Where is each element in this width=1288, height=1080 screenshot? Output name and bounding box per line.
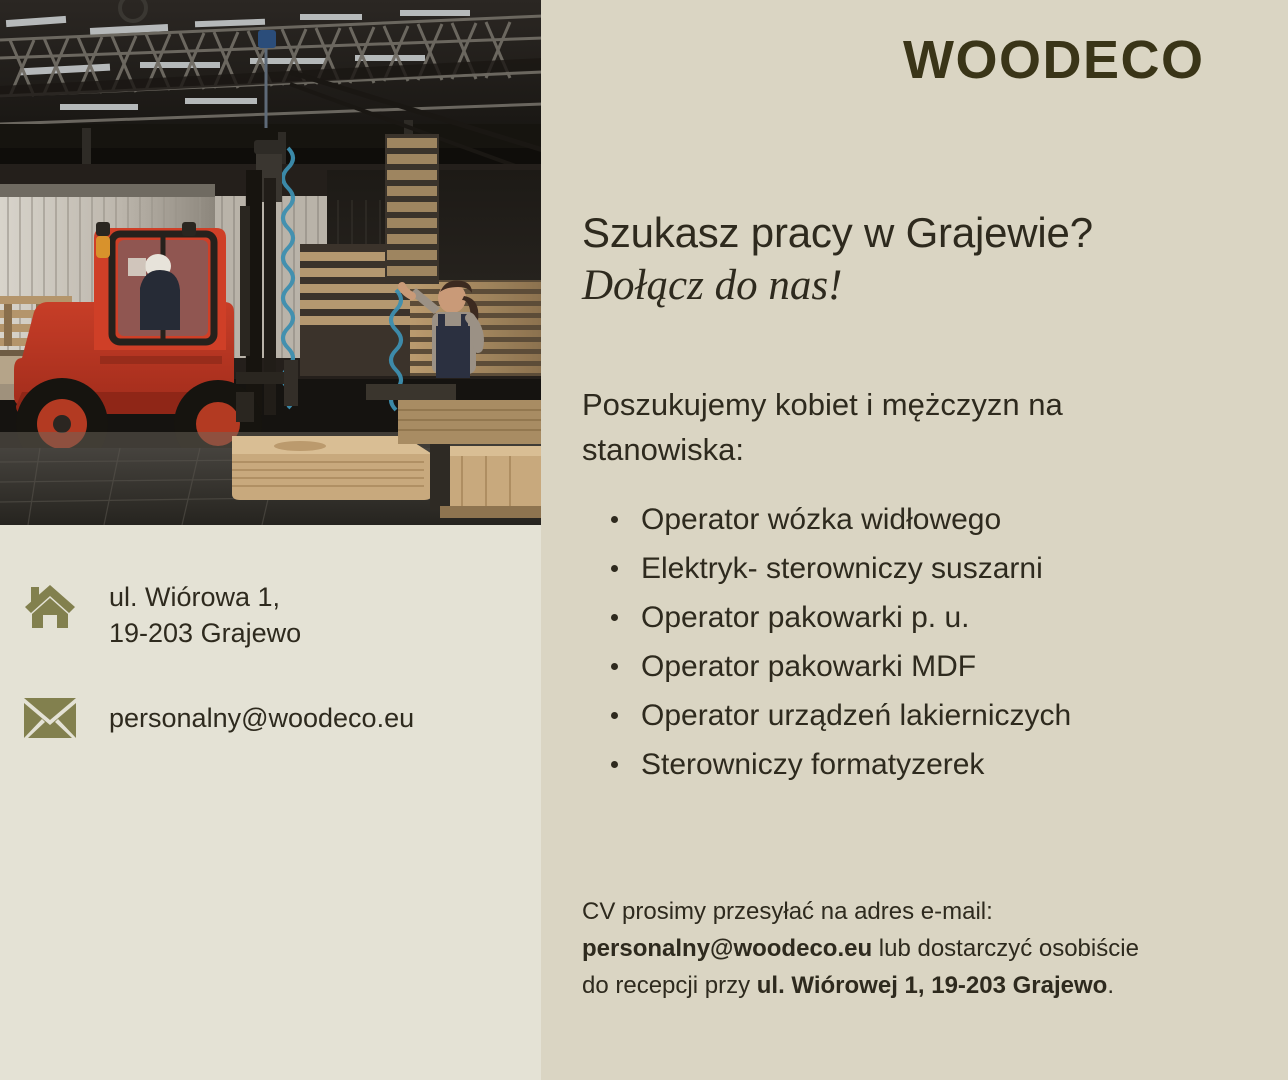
footer-line-3-prefix: do recepcji przy <box>582 972 757 999</box>
list-item: Operator urządzeń lakierniczych <box>609 691 1071 740</box>
bullet-icon <box>611 761 618 768</box>
bullet-icon <box>611 614 618 621</box>
job-positions-list: Operator wózka widłowego Elektryk- stero… <box>609 495 1071 789</box>
bullet-icon <box>611 565 618 572</box>
bullet-icon <box>611 516 618 523</box>
list-item: Operator pakowarki p. u. <box>609 593 1071 642</box>
contact-address: ul. Wiórowa 1, 19-203 Grajewo <box>24 580 301 652</box>
job-label: Elektryk- sterowniczy suszarni <box>641 552 1043 585</box>
email-text[interactable]: personalny@woodeco.eu <box>88 702 414 734</box>
home-icon <box>24 580 88 632</box>
woodeco-logo: WOODECO <box>903 33 1205 87</box>
list-item: Sterowniczy formatyzerek <box>609 740 1071 789</box>
left-panel: ul. Wiórowa 1, 19-203 Grajewo personalny… <box>0 0 541 1080</box>
footer-line-3-suffix: . <box>1107 972 1114 999</box>
job-label: Operator wózka widłowego <box>641 503 1001 536</box>
bullet-icon <box>611 712 618 719</box>
footer-line-1: CV prosimy przesyłać na adres e-mail: <box>582 898 993 925</box>
list-item: Elektryk- sterowniczy suszarni <box>609 544 1071 593</box>
job-label: Sterowniczy formatyzerek <box>641 748 984 781</box>
address-text: ul. Wiórowa 1, 19-203 Grajewo <box>88 580 301 652</box>
page-subtitle: Dołącz do nas! <box>582 262 842 309</box>
footer-email-bold[interactable]: personalny@woodeco.eu <box>582 935 872 962</box>
job-label: Operator pakowarki MDF <box>641 650 976 683</box>
positions-intro: Poszukujemy kobiet i mężczyzn na stanowi… <box>582 383 1142 473</box>
job-label: Operator urządzeń lakierniczych <box>641 699 1071 732</box>
bullet-icon <box>611 663 618 670</box>
list-item: Operator wózka widłowego <box>609 495 1071 544</box>
application-instructions: CV prosimy przesyłać na adres e-mail: pe… <box>582 893 1242 1005</box>
contact-email[interactable]: personalny@woodeco.eu <box>24 698 414 738</box>
footer-address-bold: ul. Wiórowej 1, 19-203 Grajewo <box>757 972 1108 999</box>
list-item: Operator pakowarki MDF <box>609 642 1071 691</box>
warehouse-forklift-photo <box>0 0 543 525</box>
job-label: Operator pakowarki p. u. <box>641 601 970 634</box>
recruitment-poster: ul. Wiórowa 1, 19-203 Grajewo personalny… <box>0 0 1288 1080</box>
page-title: Szukasz pracy w Grajewie? <box>582 209 1093 256</box>
envelope-icon <box>24 698 88 738</box>
footer-line-2-rest: lub dostarczyć osobiście <box>872 935 1139 962</box>
